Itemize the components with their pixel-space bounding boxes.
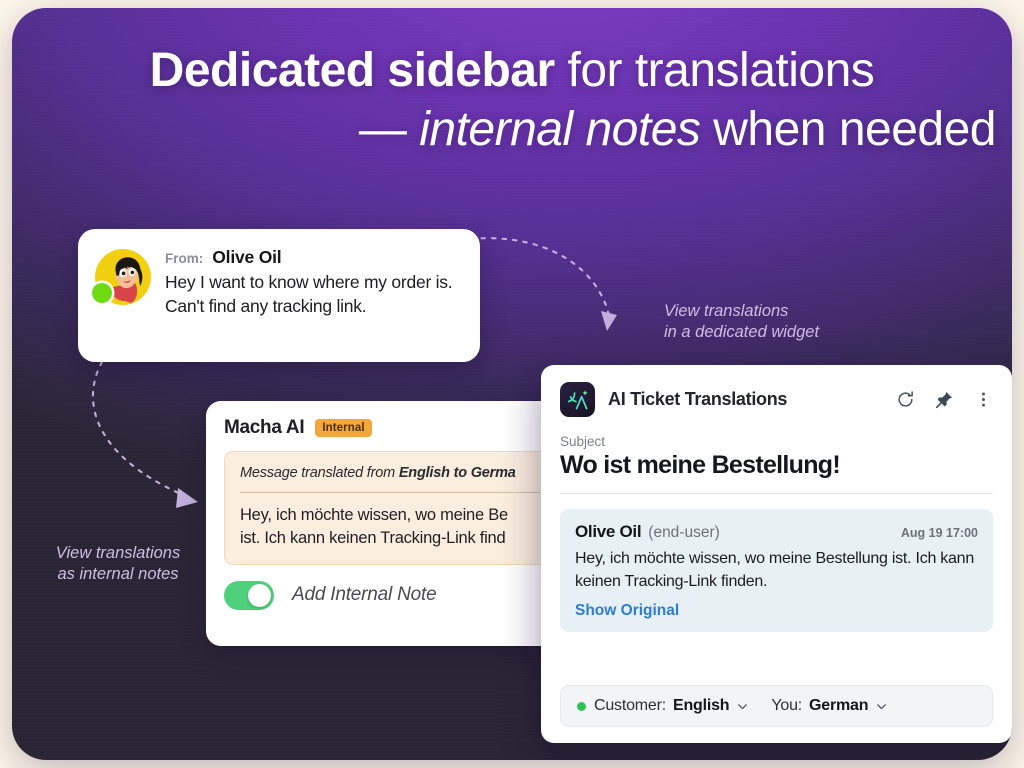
avatar — [95, 249, 151, 305]
widget-actions — [896, 390, 993, 409]
agent-language-value: German — [809, 697, 868, 715]
message-body: From: Olive Oil Hey I want to know where… — [165, 246, 462, 319]
status-badge: Internal — [315, 419, 371, 437]
translation-notice-prefix: Message translated from — [240, 465, 399, 481]
pin-icon[interactable] — [935, 390, 954, 409]
connection-status-dot — [577, 702, 586, 711]
agent-language-selector[interactable]: You: German — [771, 697, 888, 715]
page-title: Dedicated sidebar for translations — int… — [12, 42, 1012, 159]
from-sender-name: Olive Oil — [212, 247, 281, 268]
macha-ai-note-card: Macha AI Internal Message translated fro… — [206, 401, 542, 646]
divider — [240, 492, 540, 493]
subject-label: Subject — [560, 434, 993, 449]
language-settings-bar: Customer: English You: German — [560, 685, 993, 727]
arrow-to-widget — [467, 223, 647, 348]
chevron-down-icon[interactable] — [875, 700, 888, 713]
online-status-dot — [92, 283, 112, 303]
toggle-knob — [248, 584, 271, 607]
slide-canvas: Dedicated sidebar for translations — int… — [0, 0, 1024, 768]
message-timestamp: Aug 19 17:00 — [901, 526, 978, 540]
headline-bold: Dedicated sidebar — [150, 44, 555, 97]
widget-header: AI Ticket Translations — [560, 382, 993, 417]
translated-message-block: Olive Oil (end-user) Aug 19 17:00 Hey, i… — [560, 509, 993, 632]
message-author-role: (end-user) — [648, 524, 720, 542]
translate-glyph-icon — [566, 388, 590, 412]
internal-note-toggle-row[interactable]: Add Internal Note — [224, 581, 542, 610]
headline-line1-rest: for translations — [555, 44, 875, 97]
customer-language-selector[interactable]: Customer: English — [594, 697, 749, 715]
message-from-row: From: Olive Oil — [165, 247, 462, 268]
more-options-icon[interactable] — [974, 390, 993, 409]
divider — [560, 493, 993, 494]
customer-language-label: Customer: — [594, 697, 666, 715]
translate-icon — [560, 382, 595, 417]
translated-text-line-1: Hey, ich möchte wissen, wo meine Be — [240, 504, 542, 527]
translation-notice-text: Message translated from English to Germa — [240, 465, 542, 481]
translation-language-pair: English to Germa — [399, 465, 516, 481]
add-internal-note-label: Add Internal Note — [292, 584, 436, 606]
headline-line-2: — internal notes when needed — [12, 101, 1012, 160]
subject-value: Wo ist meine Bestellung! — [560, 451, 993, 480]
refresh-icon[interactable] — [896, 390, 915, 409]
headline-italic: internal notes — [419, 103, 700, 156]
translated-message-text: Hey, ich möchte wissen, wo meine Bestell… — [575, 548, 978, 594]
widget-title: AI Ticket Translations — [608, 389, 787, 410]
agent-language-label: You: — [771, 697, 802, 715]
message-block-header: Olive Oil (end-user) Aug 19 17:00 — [575, 522, 978, 542]
purple-background-panel: Dedicated sidebar for translations — int… — [12, 8, 1012, 760]
translation-notice-box: Message translated from English to Germa… — [224, 451, 542, 565]
message-author-name: Olive Oil — [575, 522, 641, 542]
customer-message-card: From: Olive Oil Hey I want to know where… — [78, 229, 480, 362]
annotation-widget-label: View translations in a dedicated widget — [664, 301, 819, 343]
annotation-internal-notes-label: View translations as internal notes — [48, 543, 188, 585]
from-label: From: — [165, 251, 203, 266]
headline-dash: — — [359, 103, 419, 156]
macha-card-header: Macha AI Internal — [224, 417, 542, 439]
macha-ai-title: Macha AI — [224, 417, 304, 439]
customer-language-value: English — [673, 697, 729, 715]
headline-line-1: Dedicated sidebar for translations — [12, 42, 1012, 101]
chevron-down-icon[interactable] — [736, 700, 749, 713]
headline-line2-rest: when needed — [700, 103, 996, 156]
ai-ticket-translations-widget: AI Ticket Translations — [541, 365, 1012, 743]
show-original-link[interactable]: Show Original — [575, 602, 679, 620]
add-internal-note-toggle[interactable] — [224, 581, 274, 610]
message-text: Hey I want to know where my order is. Ca… — [165, 271, 462, 319]
translated-text-line-2: ist. Ich kann keinen Tracking-Link find — [240, 527, 542, 550]
